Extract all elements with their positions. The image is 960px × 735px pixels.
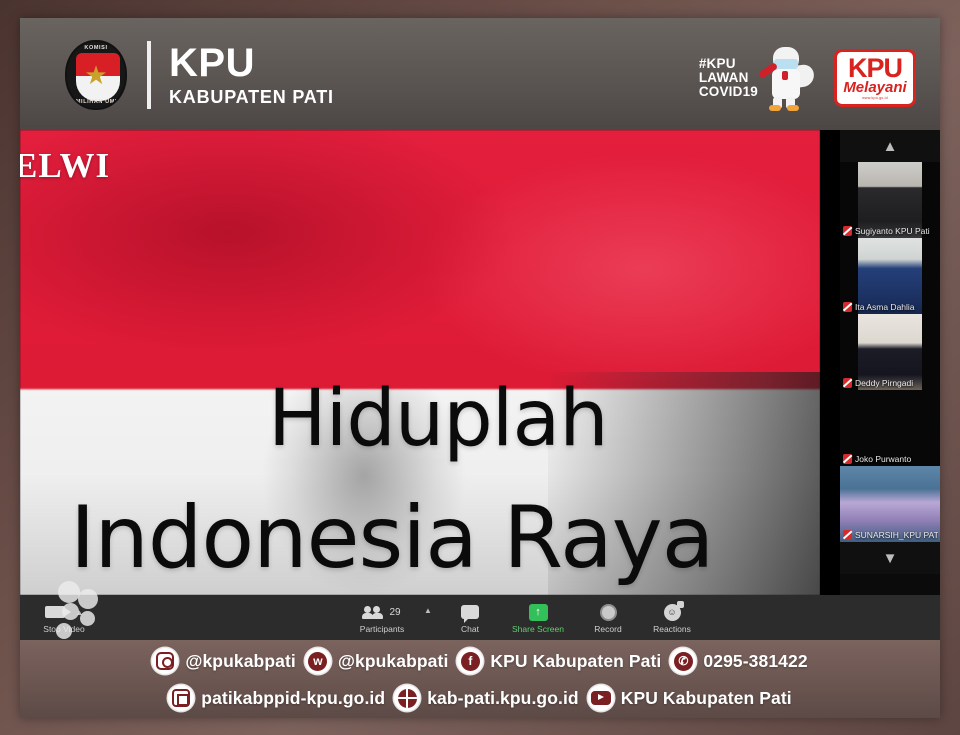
shared-screen-content: ELWI Hiduplah Indonesia Raya — [20, 130, 820, 595]
ppid-url: patikabppid-kpu.go.id — [201, 688, 385, 709]
participant-name-row: Deddy Pirngadi — [843, 378, 938, 388]
youtube-icon — [588, 685, 614, 711]
record-icon — [600, 604, 617, 621]
garuda-icon: ★ — [84, 62, 107, 88]
participant-thumbnail[interactable]: Ita Asma Dahlia — [840, 238, 940, 314]
kpu-emblem-icon: KOMISI ★ PEMILIHAN UMUM — [65, 40, 127, 110]
people-icon — [363, 606, 385, 619]
participant-name-row: Ita Asma Dahlia — [843, 302, 938, 312]
slide-headline-line-2: Indonesia Raya — [70, 495, 713, 581]
brand-title: KPU — [169, 43, 334, 83]
brand-text: KPU KABUPATEN PATI — [169, 43, 334, 108]
zoom-control-toolbar: ▲ Stop Video 29 Participants ▲ Chat ↑ Sh… — [20, 595, 940, 640]
melayani-word-text: Melayani — [843, 80, 906, 95]
smiley-reactions-icon: ☺ — [664, 604, 681, 621]
reactions-label: Reactions — [630, 624, 714, 634]
scroll-down-button[interactable]: ▼ — [840, 542, 940, 574]
superhero-mascot-icon — [760, 45, 812, 111]
facebook-contact[interactable]: f KPU Kabupaten Pati — [457, 648, 661, 674]
participant-name-row: Sugiyanto KPU Pati — [843, 226, 938, 236]
phone-icon: ✆ — [670, 648, 696, 674]
emblem-ring-bottom-text: PEMILIHAN UMUM — [67, 99, 125, 105]
slide-headline-line-1: Hiduplah — [268, 380, 608, 458]
participant-thumbnail-strip[interactable]: ▲ Sugiyanto KPU Pati Ita Asma Dahlia — [840, 130, 940, 595]
brand-subtitle: KABUPATEN PATI — [169, 87, 334, 108]
participant-thumbnail[interactable]: Joko Purwanto — [840, 390, 940, 466]
participant-name: Sugiyanto KPU Pati — [855, 226, 930, 236]
participant-name-row: SUNARSIH_KPU PATI — [843, 530, 938, 540]
twitter-handle: @kpukabpati — [338, 651, 449, 672]
facebook-icon: f — [457, 648, 483, 674]
contact-row-web: patikabppid-kpu.go.id kab-pati.kpu.go.id… — [20, 685, 940, 711]
participant-name: SUNARSIH_KPU PATI — [855, 530, 938, 540]
participants-label: Participants — [340, 624, 424, 634]
melayani-kpu-text: KPU — [848, 56, 902, 81]
twitter-contact[interactable]: w @kpukabpati — [305, 648, 449, 674]
mic-muted-icon — [843, 454, 852, 464]
website-url: kab-pati.kpu.go.id — [427, 688, 579, 709]
twitter-icon: w — [305, 648, 331, 674]
participant-thumbnail[interactable]: Deddy Pirngadi — [840, 314, 940, 390]
participant-name-row: Joko Purwanto — [843, 454, 938, 464]
youtube-channel: KPU Kabupaten Pati — [621, 688, 792, 709]
participant-name: Joko Purwanto — [855, 454, 911, 464]
phone-number: 0295-381422 — [703, 651, 807, 672]
covid-line-2: LAWAN — [699, 71, 758, 85]
instagram-contact[interactable]: @kpukabpati — [152, 648, 296, 674]
kpu-header-banner: KOMISI ★ PEMILIHAN UMUM KPU KABUPATEN PA… — [20, 18, 940, 130]
phone-contact[interactable]: ✆ 0295-381422 — [670, 648, 807, 674]
kpu-brand-lockup: KOMISI ★ PEMILIHAN UMUM KPU KABUPATEN PA… — [65, 40, 334, 110]
participants-count: 29 — [389, 607, 400, 618]
melayani-url-text: www.kpu.go.id — [862, 96, 888, 100]
mic-muted-icon — [843, 226, 852, 236]
kpu-melayani-logo: KPU Melayani www.kpu.go.id — [834, 49, 916, 107]
covid-line-1: #KPU — [699, 57, 758, 71]
website-globe-icon — [394, 685, 420, 711]
stream-artifact — [78, 589, 98, 609]
youtube-contact[interactable]: KPU Kabupaten Pati — [588, 685, 792, 711]
document-icon — [168, 685, 194, 711]
participant-name: Deddy Pirngadi — [855, 378, 913, 388]
participant-thumbnail[interactable]: SUNARSIH_KPU PATI — [840, 466, 940, 542]
covid-campaign-text: #KPU LAWAN COVID19 — [699, 57, 758, 98]
ppid-contact[interactable]: patikabppid-kpu.go.id — [168, 685, 385, 711]
mic-muted-icon — [843, 378, 852, 388]
facebook-page: KPU Kabupaten Pati — [490, 651, 661, 672]
participants-button[interactable]: 29 Participants — [340, 602, 424, 634]
participant-thumbnail[interactable]: Sugiyanto KPU Pati — [840, 162, 940, 238]
zoom-meeting-window: ELWI Hiduplah Indonesia Raya ▲ Sugiyanto… — [20, 130, 940, 640]
mic-muted-icon — [843, 530, 852, 540]
chat-bubble-icon — [461, 605, 479, 619]
covid-line-3: COVID19 — [699, 85, 758, 99]
share-screen-icon: ↑ — [529, 604, 548, 621]
stream-artifact — [56, 623, 72, 639]
stream-artifact — [62, 603, 79, 620]
reactions-button[interactable]: ☺ Reactions — [630, 602, 714, 634]
scroll-up-button[interactable]: ▲ — [840, 130, 940, 162]
brand-divider — [147, 41, 151, 109]
emblem-ring-top-text: KOMISI — [67, 45, 125, 51]
stream-artifact — [58, 581, 80, 603]
instagram-icon — [152, 648, 178, 674]
mic-muted-icon — [843, 302, 852, 312]
kpu-lawan-covid-campaign: #KPU LAWAN COVID19 — [699, 45, 812, 111]
contact-info-footer: @kpukabpati w @kpukabpati f KPU Kabupate… — [20, 640, 940, 718]
instagram-handle: @kpukabpati — [185, 651, 296, 672]
slide-corner-text: ELWI — [20, 146, 110, 186]
stream-artifact — [80, 611, 95, 626]
participant-name: Ita Asma Dahlia — [855, 302, 915, 312]
website-contact[interactable]: kab-pati.kpu.go.id — [394, 685, 579, 711]
contact-row-social: @kpukabpati w @kpukabpati f KPU Kabupate… — [20, 648, 940, 674]
